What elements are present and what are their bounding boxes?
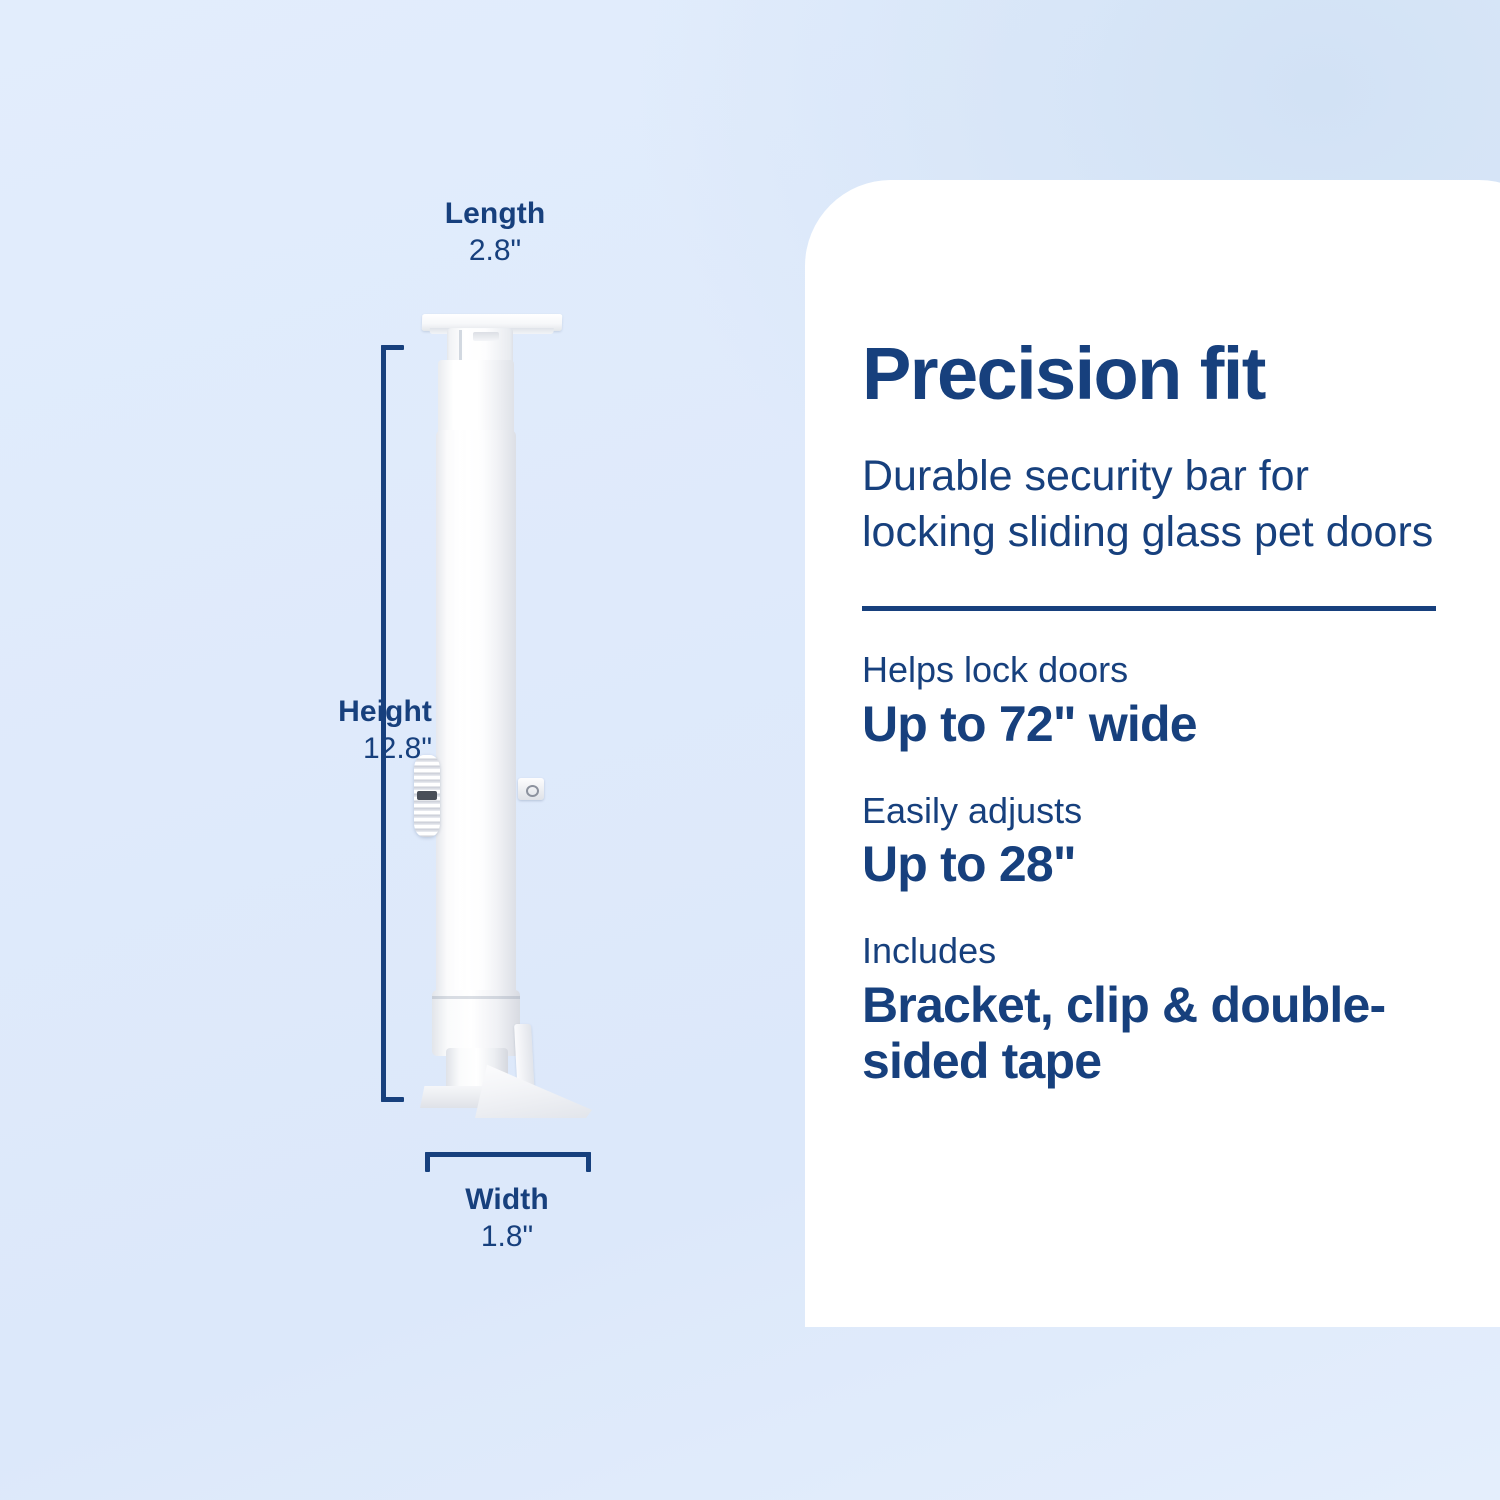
bottom-collar <box>432 990 520 1056</box>
main-tube <box>436 430 516 1005</box>
feature-label: Easily adjusts <box>862 790 1452 832</box>
feature-item-includes: Includes Bracket, clip & double-sided ta… <box>862 930 1452 1088</box>
length-dimension-value: 2.8" <box>340 233 650 270</box>
feature-label: Helps lock doors <box>862 649 1452 691</box>
feature-label: Includes <box>862 930 1452 972</box>
page-title: Precision fit <box>862 335 1452 413</box>
feature-item-lock-doors: Helps lock doors Up to 72" wide <box>862 649 1452 751</box>
feature-item-adjusts: Easily adjusts Up to 28" <box>862 790 1452 892</box>
length-dimension-title: Length <box>340 196 650 233</box>
product-dimension-panel: Length 2.8" Height 12.8" Width 1.8" <box>0 0 800 1500</box>
infographic-stage: Length 2.8" Height 12.8" Width 1.8" <box>0 0 1500 1500</box>
info-card-content: Precision fit Durable security bar for l… <box>862 335 1452 1089</box>
info-card: Precision fit Durable security bar for l… <box>805 180 1500 1327</box>
width-dimension-value: 1.8" <box>352 1219 662 1256</box>
width-dimension-title: Width <box>352 1182 662 1219</box>
height-measure-line-icon <box>381 345 386 1102</box>
feature-value: Up to 28" <box>862 836 1452 892</box>
adjustment-knob <box>414 755 440 837</box>
security-bar-product-image <box>390 300 630 1130</box>
divider <box>862 606 1436 611</box>
feature-value: Bracket, clip & double-sided tape <box>862 977 1452 1089</box>
subtitle: Durable security bar for locking sliding… <box>862 449 1442 561</box>
length-dimension-label: Length 2.8" <box>340 196 650 269</box>
width-measure-line-icon <box>425 1152 591 1157</box>
clip-tab <box>518 778 544 800</box>
feature-value: Up to 72" wide <box>862 696 1452 752</box>
width-dimension-label: Width 1.8" <box>352 1182 662 1255</box>
